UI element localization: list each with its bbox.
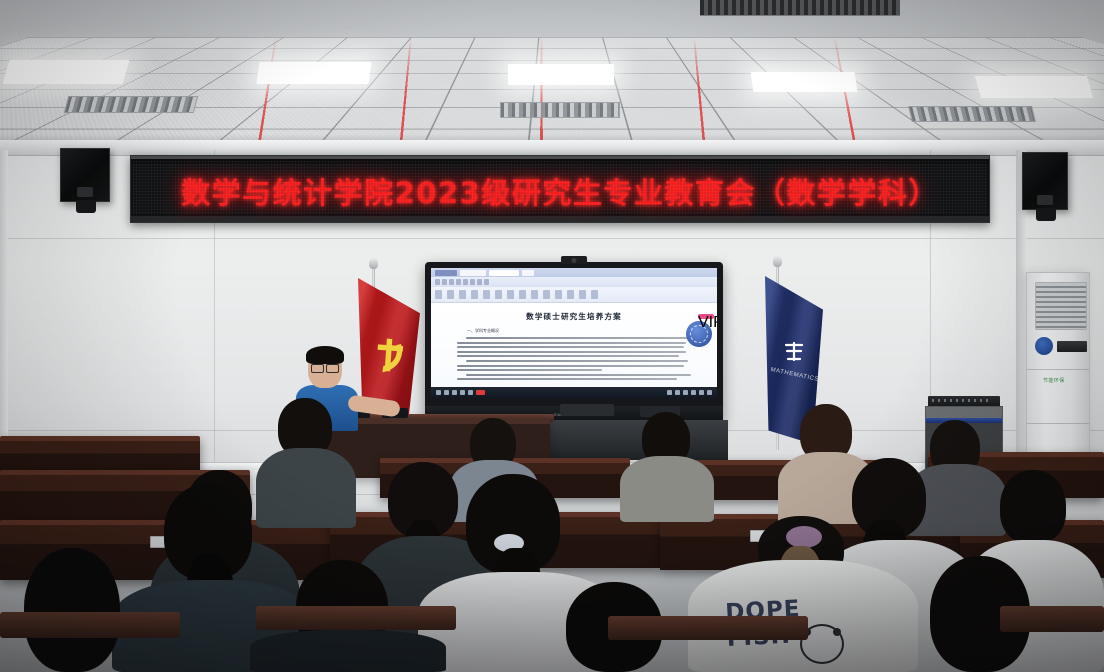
speaker-mount-right (1036, 208, 1056, 221)
toolbar-button[interactable] (531, 290, 538, 299)
document-text-line (457, 342, 686, 344)
battery-icon[interactable] (683, 390, 688, 395)
ribbon-tab[interactable] (435, 279, 440, 285)
toolbar-button[interactable] (495, 290, 502, 299)
document-text-line (466, 337, 691, 339)
document-text-line (466, 360, 688, 362)
wall-seam (0, 238, 1104, 239)
document-tab-bar[interactable] (431, 268, 717, 277)
toolbar-button[interactable] (591, 290, 598, 299)
pen-icon[interactable] (691, 390, 696, 395)
keyboard-icon[interactable] (699, 390, 704, 395)
ribbon-tab[interactable] (484, 279, 489, 285)
led-banner-text: 数学与统计学院2023级研究生专业教育会（数学学科） (131, 170, 989, 212)
person-head (24, 548, 120, 672)
recording-indicator-icon[interactable] (476, 390, 485, 395)
ribbon-tab-group[interactable] (435, 279, 489, 285)
led-banner: 数学与统计学院2023级研究生专业教育会（数学学科） (130, 155, 990, 223)
person-head (1000, 470, 1066, 544)
ceiling-panel-light (508, 64, 614, 85)
ribbon-tab[interactable] (470, 279, 475, 285)
document-tab-active[interactable] (489, 270, 519, 276)
ac-logo-label: 节能环保 (1043, 377, 1065, 384)
toolbar-button[interactable] (555, 290, 562, 299)
school-flag-text: MATHEMATICS (770, 367, 820, 383)
desk-laptop (560, 404, 614, 416)
person-torso (256, 448, 356, 528)
ceiling-grille-fixture (908, 106, 1036, 122)
wall-soffit-beam (0, 140, 1104, 156)
bench-row-1 (0, 612, 180, 638)
person-torso (250, 630, 446, 672)
presenter-glasses-icon (311, 364, 339, 371)
start-menu-icon[interactable] (436, 390, 441, 395)
document-tab[interactable] (460, 270, 486, 276)
front-console-desk (528, 420, 728, 460)
document-text-line (457, 365, 684, 367)
speaker-mount-left (76, 200, 96, 213)
search-icon[interactable] (444, 390, 449, 395)
ribbon-tab[interactable] (456, 279, 461, 285)
os-taskbar[interactable] (431, 387, 717, 398)
display-screen[interactable]: VIP 数学硕士研究生培养方案 一、学科专业概况 (431, 268, 717, 398)
document-text-line (457, 378, 677, 380)
school-emblem-icon (781, 338, 807, 364)
document-section-heading: 一、学科专业概况 (467, 328, 691, 334)
clock-display[interactable] (707, 390, 712, 395)
toolbar-button[interactable] (459, 290, 466, 299)
toolbar-button[interactable] (435, 290, 442, 299)
person-torso (620, 456, 714, 522)
document-text-line (466, 374, 691, 376)
toolbar-button[interactable] (543, 290, 550, 299)
flagpole-finial-left (369, 258, 378, 269)
ribbon-toolbar[interactable] (431, 287, 717, 303)
app-menu-tab[interactable] (435, 270, 457, 276)
wall-speaker-right (1022, 152, 1068, 210)
toolbar-button[interactable] (447, 290, 454, 299)
ceiling-air-vent (700, 0, 900, 16)
bench-row-1 (608, 616, 808, 640)
bench-row-1 (1000, 606, 1104, 632)
document-text-line (457, 346, 684, 348)
wall-corner-left (0, 150, 8, 470)
ac-seam (1027, 369, 1089, 370)
hammer-and-sickle-icon (369, 332, 411, 383)
document-text-line (457, 355, 679, 357)
ac-energy-badge-icon (1035, 337, 1053, 355)
display-camera-icon (561, 256, 587, 264)
document-page[interactable]: VIP 数学硕士研究生培养方案 一、学科专业概况 (431, 303, 717, 398)
network-icon[interactable] (667, 390, 672, 395)
ac-control-panel[interactable] (1057, 341, 1087, 352)
presenter-hair (306, 346, 344, 364)
ribbon-tab[interactable] (477, 279, 482, 285)
person-hair-tie (786, 526, 822, 548)
bench-row-1 (256, 606, 456, 630)
interactive-display[interactable]: VIP 数学硕士研究生培养方案 一、学科专业概况 (425, 262, 723, 422)
ribbon-tab[interactable] (442, 279, 447, 285)
browser-icon[interactable] (460, 390, 465, 395)
toolbar-button[interactable] (567, 290, 574, 299)
ceiling (0, 0, 1104, 152)
ceiling-panel-light (256, 62, 371, 84)
document-title: 数学硕士研究生培养方案 (457, 311, 691, 322)
ceiling-panel-light (975, 76, 1093, 98)
ceiling-panel-light (3, 60, 130, 84)
ceiling-grille-fixture (500, 102, 620, 118)
toolbar-button[interactable] (579, 290, 586, 299)
toolbar-button[interactable] (471, 290, 478, 299)
toolbar-button[interactable] (507, 290, 514, 299)
toolbar-button[interactable] (483, 290, 490, 299)
app-icon[interactable] (468, 390, 473, 395)
vip-badge: VIP (698, 314, 714, 319)
ribbon-tab[interactable] (449, 279, 454, 285)
taskbar-left-group[interactable] (436, 390, 485, 395)
ac-louver-vent (1035, 282, 1087, 330)
volume-icon[interactable] (675, 390, 680, 395)
document-text-line (457, 351, 686, 353)
new-tab-button[interactable] (522, 270, 534, 276)
floor-air-conditioner: 节能环保 (1026, 272, 1090, 472)
toolbar-button[interactable] (519, 290, 526, 299)
ac-seam (1027, 423, 1089, 424)
ribbon-tab-bar[interactable] (431, 277, 717, 287)
wall-speaker-left (60, 148, 110, 202)
ribbon-tab[interactable] (463, 279, 468, 285)
document-text-line (457, 369, 602, 371)
lecture-room-photo: 数学与统计学院2023级研究生专业教育会（数学学科） MATHEMATICS (0, 0, 1104, 672)
ceiling-grille-fixture (64, 96, 199, 113)
ceiling-panel-light (751, 72, 858, 92)
flagpole-finial-right (773, 256, 782, 267)
folder-icon[interactable] (452, 390, 457, 395)
taskbar-right-group[interactable] (667, 390, 712, 395)
